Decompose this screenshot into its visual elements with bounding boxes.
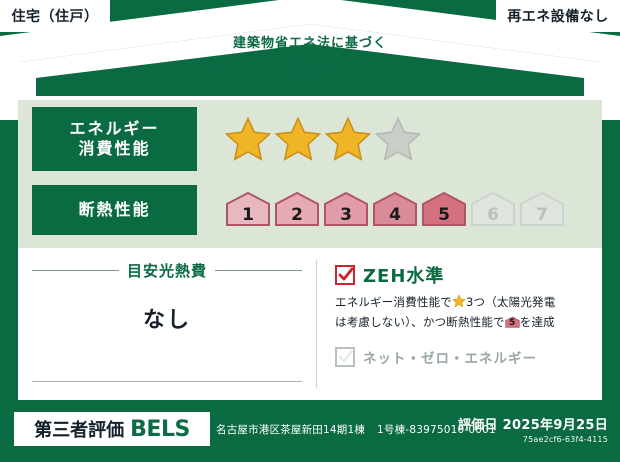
heading-rule-left xyxy=(32,270,119,271)
energy-performance-label: エネルギー 消費性能 xyxy=(32,107,197,171)
zeh-standard-title: ZEH水準 xyxy=(363,262,444,288)
net-zero-energy-label: ネット・ゼロ・エネルギー xyxy=(363,347,537,367)
insulation-level-inactive: 7 xyxy=(519,191,565,229)
heading-rule-right xyxy=(215,270,302,271)
utility-cost-title: 目安光熱費 xyxy=(127,260,207,281)
label-body-panel: エネルギー 消費性能 断熱性能 1234567 xyxy=(18,100,602,400)
footer-address-line: 名古屋市港区茶屋新田14期1棟1号棟-83975010-0001 xyxy=(216,422,496,437)
insulation-level-achieved: 3 xyxy=(323,191,369,229)
insulation-level-achieved: 2 xyxy=(274,191,320,229)
evaluation-date-label: 評価日 xyxy=(458,418,498,433)
star-filled-icon xyxy=(225,116,271,162)
zeh-description: エネルギー消費性能で 3つ（太陽光発電は考慮しない）、かつ断熱性能で 5 を達成 xyxy=(335,294,592,335)
property-address: 名古屋市港区茶屋新田14期1棟 xyxy=(216,424,365,436)
insulation-level-number: 4 xyxy=(389,207,401,229)
star-empty-icon xyxy=(375,116,421,162)
insulation-label-text: 断熱性能 xyxy=(78,200,150,220)
zeh-desc-part1: エネルギー消費性能で xyxy=(335,295,452,309)
evaluation-date-line: 評価日 2025年9月25日 xyxy=(458,414,608,433)
zeh-desc-part3: を達成 xyxy=(520,315,555,329)
bels-logo: 第三者評価 BELS xyxy=(14,412,210,446)
zeh-desc-part2: は考慮しない）、かつ断熱性能で xyxy=(335,315,505,329)
insulation-level-number: 5 xyxy=(438,207,450,229)
insulation-level-number: 1 xyxy=(242,207,254,229)
footer-evaluation-date: 評価日 2025年9月25日 75ae2cf6-63f4-4115 xyxy=(458,414,608,444)
insulation-level-number: 7 xyxy=(536,207,548,229)
performance-zone: エネルギー 消費性能 断熱性能 1234567 xyxy=(18,100,602,248)
zeh-standard-row: ZEH水準 xyxy=(335,262,592,288)
evaluation-date-value: 2025年9月25日 xyxy=(503,418,608,433)
insulation-level-inactive: 6 xyxy=(470,191,516,229)
energy-label-line2: 消費性能 xyxy=(78,139,150,159)
insulation-level-number: 2 xyxy=(291,207,303,229)
zeh-desc-stars: 3つ（太陽光発電 xyxy=(466,295,555,309)
insulation-level-number: 3 xyxy=(340,207,352,229)
label-footer: 第三者評価 BELS 名古屋市港区茶屋新田14期1棟1号棟-83975010-0… xyxy=(0,406,620,462)
energy-performance-row: エネルギー 消費性能 xyxy=(18,106,602,172)
star-filled-icon xyxy=(275,116,321,162)
bels-en-text: BELS xyxy=(130,417,190,442)
insulation-performance-row: 断熱性能 1234567 xyxy=(18,182,602,238)
insulation-level-number: 6 xyxy=(487,207,499,229)
insulation-level-achieved: 1 xyxy=(225,191,271,229)
net-zero-energy-row: ネット・ゼロ・エネルギー xyxy=(335,347,592,367)
zeh-column: ZEH水準 エネルギー消費性能で 3つ（太陽光発電は考慮しない）、かつ断熱性能で… xyxy=(317,248,602,400)
utility-cost-value: なし xyxy=(18,302,316,334)
star-rating xyxy=(225,116,421,162)
insulation-performance-value: 1234567 xyxy=(197,191,602,229)
utility-cost-column: 目安光熱費 なし xyxy=(18,248,316,400)
utility-cost-bottom-rule xyxy=(32,381,302,382)
zeh-checkbox-checked-icon xyxy=(335,265,355,285)
lower-section: 目安光熱費 なし ZEH水準 エネルギー消費性能で xyxy=(18,248,602,400)
energy-label-line1: エネルギー xyxy=(69,119,159,139)
utility-cost-heading: 目安光熱費 xyxy=(32,260,302,281)
insulation-level-scale: 1234567 xyxy=(225,191,565,229)
energy-performance-value xyxy=(197,116,602,162)
mini-house-badge-number: 5 xyxy=(505,317,520,331)
insulation-level-achieved: 5 xyxy=(421,191,467,229)
bels-jp-text: 第三者評価 xyxy=(34,416,124,442)
document-id: 75ae2cf6-63f4-4115 xyxy=(458,435,608,444)
star-filled-icon xyxy=(325,116,371,162)
insulation-performance-label: 断熱性能 xyxy=(32,185,197,235)
tag-renewable-equipment: 再エネ設備なし xyxy=(496,0,620,32)
mini-star-icon xyxy=(452,294,466,314)
mini-house-badge-icon: 5 xyxy=(505,316,520,335)
nze-checkbox-unchecked-icon xyxy=(335,347,355,367)
energy-performance-label: 住宅（住戸） 再エネ設備なし 建築物省エネ法に基づく 省エネ性能ラベル エネルギ… xyxy=(0,0,620,462)
tag-dwelling-type: 住宅（住戸） xyxy=(0,0,110,32)
insulation-level-achieved: 4 xyxy=(372,191,418,229)
